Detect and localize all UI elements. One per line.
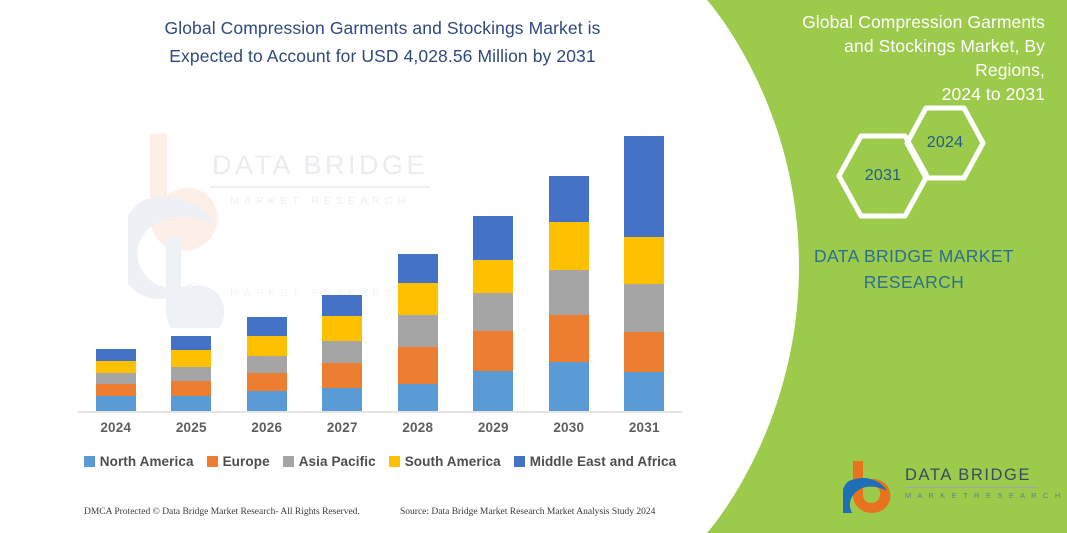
legend-item[interactable]: Asia Pacific (283, 454, 376, 469)
page-title-line-2: Expected to Account for USD 4,028.56 Mil… (60, 42, 705, 70)
x-axis-label: 2029 (457, 420, 529, 435)
bar-segment[interactable] (549, 222, 589, 270)
bar-segment[interactable] (549, 362, 589, 411)
bar-group (306, 295, 378, 411)
x-axis-line (78, 411, 682, 413)
dbmr-logo-sub: M A R K E T R E S E A R C H (905, 491, 1045, 501)
bar-segment[interactable] (322, 341, 362, 363)
bar-column[interactable] (96, 349, 136, 411)
bar-segment[interactable] (473, 216, 513, 260)
x-axis-label: 2030 (533, 420, 605, 435)
bar-segment[interactable] (473, 371, 513, 411)
stacked-bar-series (78, 120, 682, 411)
dbmr-logo-main: DATA BRIDGE (905, 465, 1045, 485)
bar-group (457, 216, 529, 411)
right-panel-title-line-2: and Stockings Market, By Regions, (777, 34, 1045, 82)
bar-segment[interactable] (96, 361, 136, 373)
bar-segment[interactable] (171, 381, 211, 396)
legend-swatch-icon (283, 456, 294, 467)
bar-segment[interactable] (96, 384, 136, 396)
bar-column[interactable] (322, 295, 362, 411)
x-axis-label: 2025 (155, 420, 227, 435)
right-panel-brand-line-1: DATA BRIDGE MARKET (785, 243, 1043, 269)
x-axis-label: 2028 (382, 420, 454, 435)
legend-item[interactable]: North America (84, 454, 194, 469)
x-axis-label: 2027 (306, 420, 378, 435)
legend-swatch-icon (84, 456, 95, 467)
bar-segment[interactable] (624, 237, 664, 284)
legend-item[interactable]: South America (389, 454, 501, 469)
bar-segment[interactable] (398, 283, 438, 315)
infographic-root: Global Compression Garments and Stocking… (0, 0, 1067, 533)
footer: DMCA Protected © Data Bridge Market Rese… (0, 507, 706, 529)
right-panel-content: Global Compression Garments and Stocking… (767, 0, 1067, 533)
bar-segment[interactable] (473, 293, 513, 331)
bar-segment[interactable] (473, 331, 513, 371)
bar-column[interactable] (171, 336, 211, 411)
x-axis-label: 2031 (608, 420, 680, 435)
dbmr-logo-rule (906, 487, 1038, 488)
dbmr-logo-icon (843, 459, 899, 513)
legend-label: South America (405, 454, 501, 469)
right-panel-title-line-1: Global Compression Garments (777, 10, 1045, 34)
bar-segment[interactable] (322, 316, 362, 341)
bar-segment[interactable] (171, 350, 211, 367)
bar-segment[interactable] (624, 372, 664, 411)
dbmr-logo: DATA BRIDGE M A R K E T R E S E A R C H (843, 459, 1043, 515)
bar-segment[interactable] (247, 356, 287, 373)
x-axis-tick-labels: 20242025202620272028202920302031 (78, 420, 682, 442)
page-title-line-1: Global Compression Garments and Stocking… (60, 14, 705, 42)
bar-column[interactable] (247, 317, 287, 411)
legend-swatch-icon (514, 456, 525, 467)
right-panel-brand-line-2: RESEARCH (785, 269, 1043, 295)
bar-column[interactable] (549, 176, 589, 411)
right-panel-title: Global Compression Garments and Stocking… (777, 10, 1045, 106)
bar-segment[interactable] (624, 136, 664, 237)
bar-segment[interactable] (398, 347, 438, 384)
bar-segment[interactable] (398, 384, 438, 411)
dbmr-logo-text: DATA BRIDGE M A R K E T R E S E A R C H (905, 465, 1045, 501)
chart-legend: North AmericaEuropeAsia PacificSouth Ame… (60, 454, 700, 469)
right-panel-brand: DATA BRIDGE MARKET RESEARCH (785, 243, 1043, 295)
bar-segment[interactable] (171, 367, 211, 381)
bar-segment[interactable] (549, 270, 589, 315)
bar-segment[interactable] (473, 260, 513, 293)
bar-segment[interactable] (171, 396, 211, 411)
bar-group (533, 176, 605, 411)
legend-label: Europe (223, 454, 270, 469)
bar-segment[interactable] (549, 176, 589, 222)
bar-segment[interactable] (247, 336, 287, 356)
bar-segment[interactable] (398, 254, 438, 283)
chart-plot-area (78, 120, 682, 415)
bar-segment[interactable] (624, 284, 664, 332)
footer-source: Source: Data Bridge Market Research Mark… (400, 507, 655, 517)
bar-segment[interactable] (247, 391, 287, 411)
bar-group (608, 136, 680, 411)
legend-label: Middle East and Africa (530, 454, 676, 469)
legend-swatch-icon (207, 456, 218, 467)
bar-group (155, 336, 227, 411)
page-title: Global Compression Garments and Stocking… (60, 14, 705, 70)
bar-segment[interactable] (322, 388, 362, 411)
x-axis-label: 2026 (231, 420, 303, 435)
hexagon-badge-2024: 2024 (903, 104, 987, 182)
bar-segment[interactable] (96, 373, 136, 384)
bar-segment[interactable] (624, 332, 664, 372)
bar-segment[interactable] (322, 295, 362, 316)
bar-column[interactable] (624, 136, 664, 411)
bar-group (231, 317, 303, 411)
legend-label: Asia Pacific (299, 454, 376, 469)
legend-item[interactable]: Middle East and Africa (514, 454, 676, 469)
bar-segment[interactable] (96, 349, 136, 361)
hexagon-badges: 2031 2024 (807, 104, 987, 214)
bar-column[interactable] (398, 254, 438, 411)
legend-swatch-icon (389, 456, 400, 467)
legend-item[interactable]: Europe (207, 454, 270, 469)
bar-segment[interactable] (171, 336, 211, 350)
right-panel-title-line-3: 2024 to 2031 (777, 82, 1045, 106)
bar-group (382, 254, 454, 411)
bar-segment[interactable] (549, 315, 589, 362)
bar-segment[interactable] (247, 373, 287, 391)
bar-column[interactable] (473, 216, 513, 411)
x-axis-label: 2024 (80, 420, 152, 435)
footer-copyright: DMCA Protected © Data Bridge Market Rese… (84, 507, 360, 517)
bar-segment[interactable] (322, 363, 362, 388)
bar-group (80, 349, 152, 411)
bar-segment[interactable] (96, 396, 136, 411)
legend-label: North America (100, 454, 194, 469)
hexagon-badge-2024-label: 2024 (903, 104, 987, 182)
bar-segment[interactable] (247, 317, 287, 336)
right-panel: Global Compression Garments and Stocking… (707, 0, 1067, 533)
bar-segment[interactable] (398, 315, 438, 347)
